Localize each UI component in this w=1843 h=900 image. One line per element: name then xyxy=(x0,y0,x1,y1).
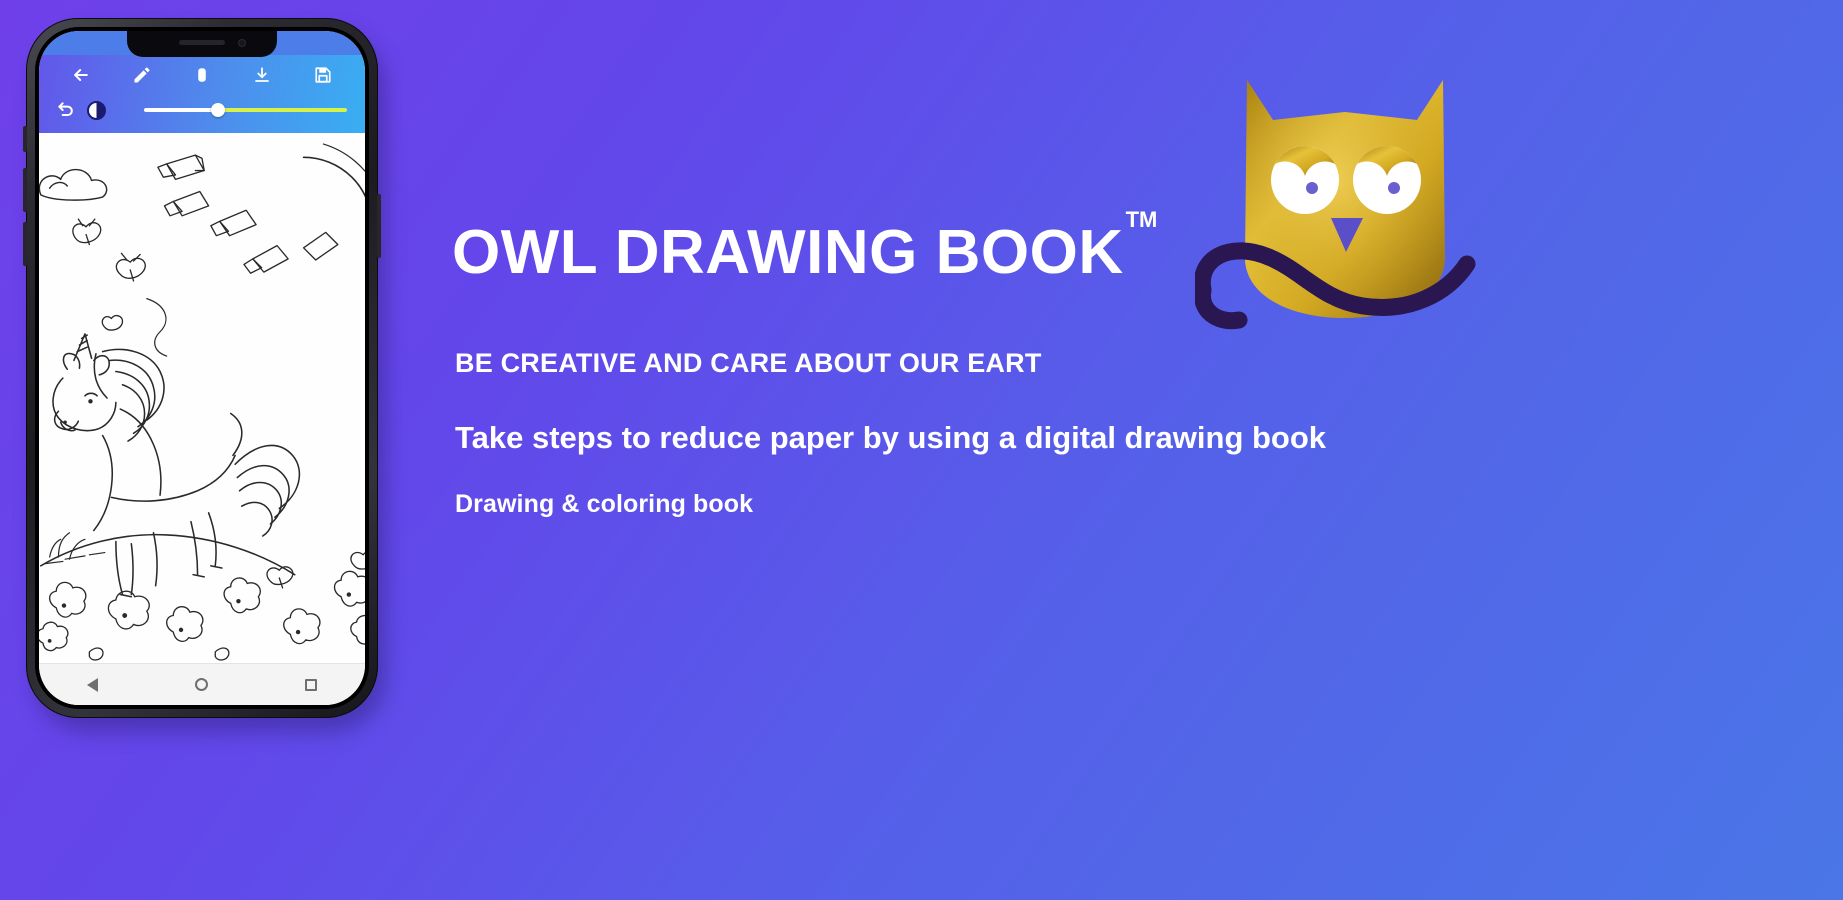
contrast-icon[interactable] xyxy=(87,101,106,120)
owl-right-eye xyxy=(1353,146,1421,214)
download-icon[interactable] xyxy=(251,64,273,86)
earpiece-speaker xyxy=(179,40,225,45)
back-icon[interactable] xyxy=(70,64,92,86)
trademark-mark: TM xyxy=(1126,207,1158,232)
subtitle: Take steps to reduce paper by using a di… xyxy=(455,420,1326,456)
pencil-icon[interactable] xyxy=(131,64,153,86)
phone-screen xyxy=(39,31,365,705)
app-toolbar xyxy=(39,55,365,133)
silent-switch[interactable] xyxy=(23,126,27,152)
undo-icon[interactable] xyxy=(55,99,77,121)
tagline: BE CREATIVE AND CARE ABOUT OUR EART xyxy=(455,348,1042,379)
phone-mockup xyxy=(26,18,386,730)
slider-track-filled xyxy=(144,108,217,112)
slider-thumb[interactable] xyxy=(211,103,225,117)
save-icon[interactable] xyxy=(312,64,334,86)
phone-frame xyxy=(26,18,378,718)
content-panel: OWL DRAWING BOOKTM BE CREATIVE AND CARE … xyxy=(452,0,1843,900)
toolbar-row-secondary xyxy=(39,93,365,127)
page-title: OWL DRAWING BOOKTM xyxy=(452,222,1155,284)
android-back-button[interactable] xyxy=(87,678,98,692)
volume-up-button[interactable] xyxy=(23,168,27,212)
phone-bezel xyxy=(35,27,369,709)
brush-size-slider[interactable] xyxy=(144,101,347,119)
android-navigation-bar xyxy=(39,663,365,705)
power-button[interactable] xyxy=(377,194,381,258)
owl-logo xyxy=(1195,62,1495,362)
eraser-icon[interactable] xyxy=(191,64,213,86)
slider-track-remaining xyxy=(217,108,347,112)
drawing-canvas[interactable] xyxy=(39,133,365,663)
brand-title-text: OWL DRAWING BOOK xyxy=(452,218,1124,287)
android-home-button[interactable] xyxy=(195,678,208,691)
android-recents-button[interactable] xyxy=(305,679,317,691)
owl-left-eye xyxy=(1271,146,1339,214)
description: Drawing & coloring book xyxy=(455,490,753,519)
toolbar-row-primary xyxy=(39,57,365,93)
phone-notch xyxy=(127,31,277,57)
volume-down-button[interactable] xyxy=(23,222,27,266)
front-camera xyxy=(239,40,245,46)
